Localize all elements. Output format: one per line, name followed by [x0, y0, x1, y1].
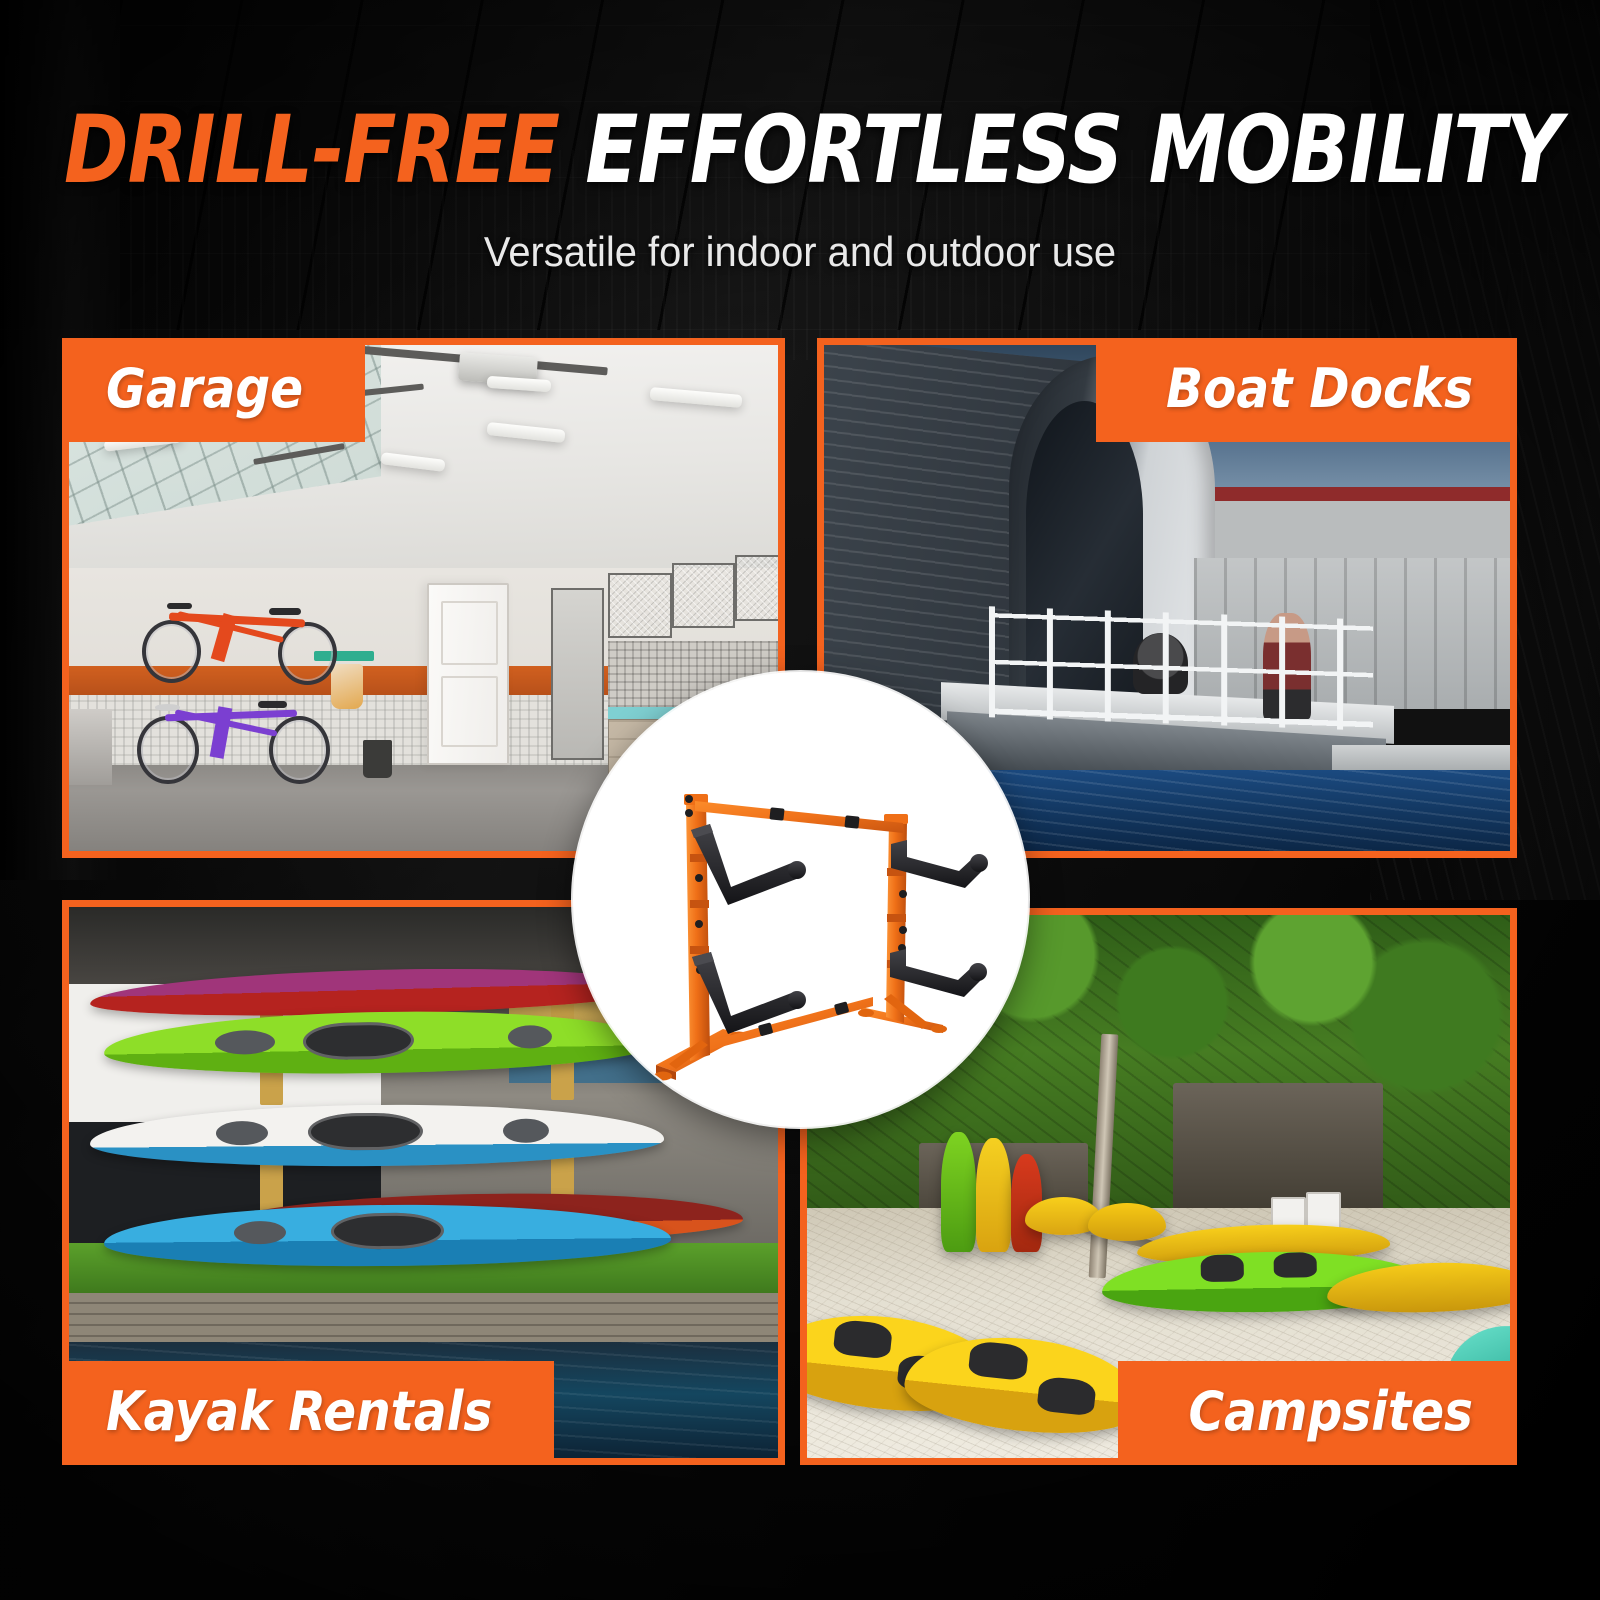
- kayak-cockpit: [303, 1021, 414, 1060]
- garage-interior-door: [427, 583, 509, 765]
- bike-wheel: [269, 716, 330, 784]
- rack-top-cross-rail: [695, 801, 903, 833]
- garage-car-edge: [62, 709, 112, 785]
- kayak-hatch: [235, 1220, 286, 1243]
- kayak-rack-illustration: [573, 672, 1028, 1127]
- panel-label-boat-docks: Boat Docks: [1096, 338, 1517, 442]
- kayak-hatch: [216, 1121, 268, 1146]
- garage-upper-cabinet-2: [672, 563, 736, 629]
- kayak-hatch: [215, 1029, 276, 1054]
- bike-saddle: [269, 608, 301, 615]
- bike-wheel: [278, 622, 337, 685]
- campsite-kayak-stored-yellow: [976, 1138, 1011, 1252]
- campsite-kayak-stored-green: [941, 1132, 976, 1251]
- garage-trash-bin: [363, 740, 391, 778]
- page-subtitle: Versatile for indoor and outdoor use: [40, 228, 1560, 276]
- bike-handlebar: [155, 704, 180, 710]
- kayak-seat: [832, 1319, 893, 1360]
- garage-bike-upper: [140, 588, 367, 689]
- page-title: DRILL-FREE EFFORTLESS MOBILITY: [64, 104, 1536, 198]
- garage-upper-cabinet-1: [608, 573, 672, 639]
- marketing-poster: DRILL-FREE EFFORTLESS MOBILITY Versatile…: [0, 0, 1600, 1600]
- garage-upper-cabinet-3: [735, 555, 785, 621]
- panel-label-kayak-rentals: Kayak Rentals: [62, 1361, 554, 1465]
- bike-wheel: [142, 620, 201, 683]
- kayak-seat: [1201, 1254, 1244, 1282]
- kayak-cockpit: [308, 1113, 423, 1150]
- kayak-cockpit: [331, 1213, 445, 1249]
- panel-label-campsites: Campsites: [1118, 1361, 1517, 1465]
- garage-bike-lower: [133, 684, 360, 790]
- rack-arm-lower-right: [890, 949, 987, 997]
- bike-handlebar: [167, 603, 192, 609]
- bike-wheel: [137, 716, 198, 784]
- panel-label-garage: Garage: [62, 338, 365, 442]
- campsite-kayak-shed-yellow-2: [1088, 1203, 1165, 1241]
- headline-accent: DRILL-FREE: [64, 96, 559, 205]
- kayak-seat: [1274, 1252, 1317, 1278]
- bike-saddle: [258, 701, 287, 708]
- kayak-seat: [1037, 1375, 1098, 1416]
- kayak-hatch: [508, 1024, 553, 1048]
- kayak-hatch: [504, 1118, 550, 1143]
- headline-rest: EFFORTLESS MOBILITY: [585, 96, 1561, 205]
- kayak-seat: [968, 1340, 1029, 1381]
- deck-railing: [989, 606, 1373, 731]
- product-badge-circle: [573, 672, 1028, 1127]
- rental-wooden-dock: [69, 1293, 778, 1343]
- rack-arm-upper-left: [691, 824, 806, 905]
